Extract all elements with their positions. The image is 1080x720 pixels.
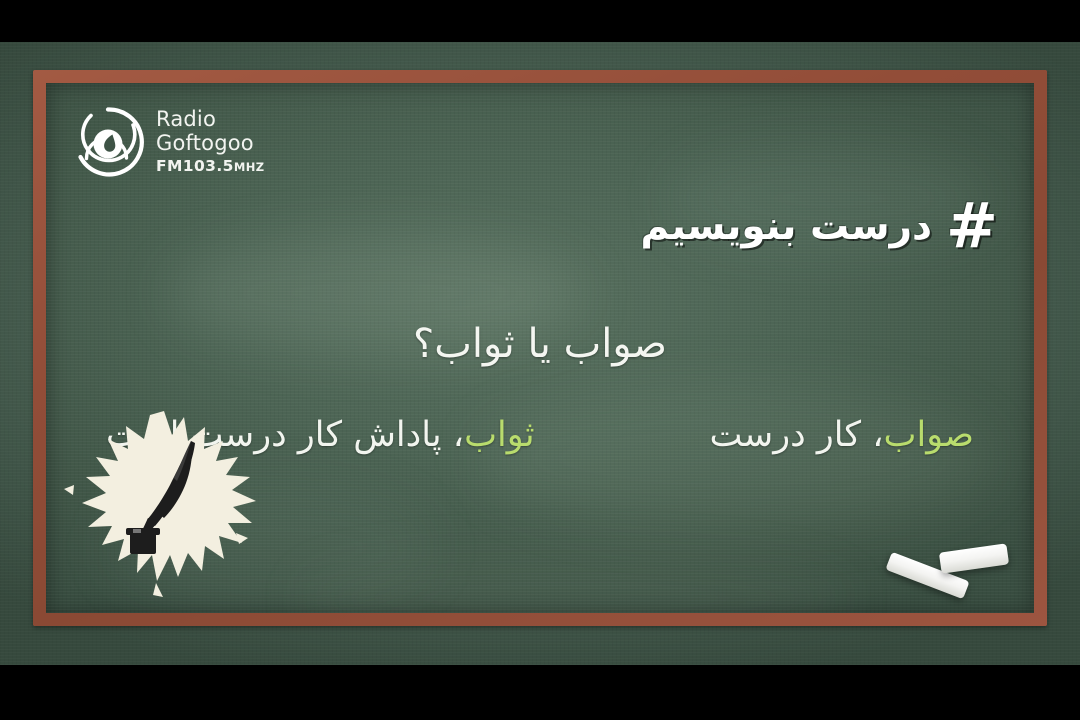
chalkboard-surface: Radio Goftogoo FM103.5MHZ # درست بنویسیم… [46,83,1034,613]
radio-logo: Radio Goftogoo FM103.5MHZ [71,105,264,179]
logo-line-goftogoo: Goftogoo [156,133,264,154]
answer-definition-1: ، کار درست [710,415,884,455]
lesson-question: صواب یا ثواب؟ [46,321,1034,367]
hashtag-icon: # [946,195,998,257]
frequency-unit: MHZ [234,160,265,174]
chalk-stick-icon [939,543,1009,573]
answer-term-2: ثواب [464,415,535,455]
letterbox-bar-bottom [0,665,1080,720]
radio-swirl-logo-icon [71,105,145,179]
answer-item-1: صواب، کار درست [710,415,974,455]
chalk-tray [882,538,1022,613]
headline-text: درست بنویسیم [641,204,933,249]
chalk-smudge [296,553,856,613]
logo-line-radio: Radio [156,109,264,130]
chalkboard-frame: Radio Goftogoo FM103.5MHZ # درست بنویسیم… [33,70,1047,626]
answer-term-1: صواب [884,415,974,455]
chalk-smudge [476,383,996,533]
frequency-value: FM103.5 [156,157,234,175]
quill-pen-inkwell-splash-icon [60,405,272,613]
letterbox-bar-top [0,0,1080,42]
logo-frequency: FM103.5MHZ [156,159,264,175]
headline: # درست بنویسیم [641,195,998,257]
slide-stage: Radio Goftogoo FM103.5MHZ # درست بنویسیم… [0,0,1080,720]
radio-logo-text: Radio Goftogoo FM103.5MHZ [156,109,264,175]
